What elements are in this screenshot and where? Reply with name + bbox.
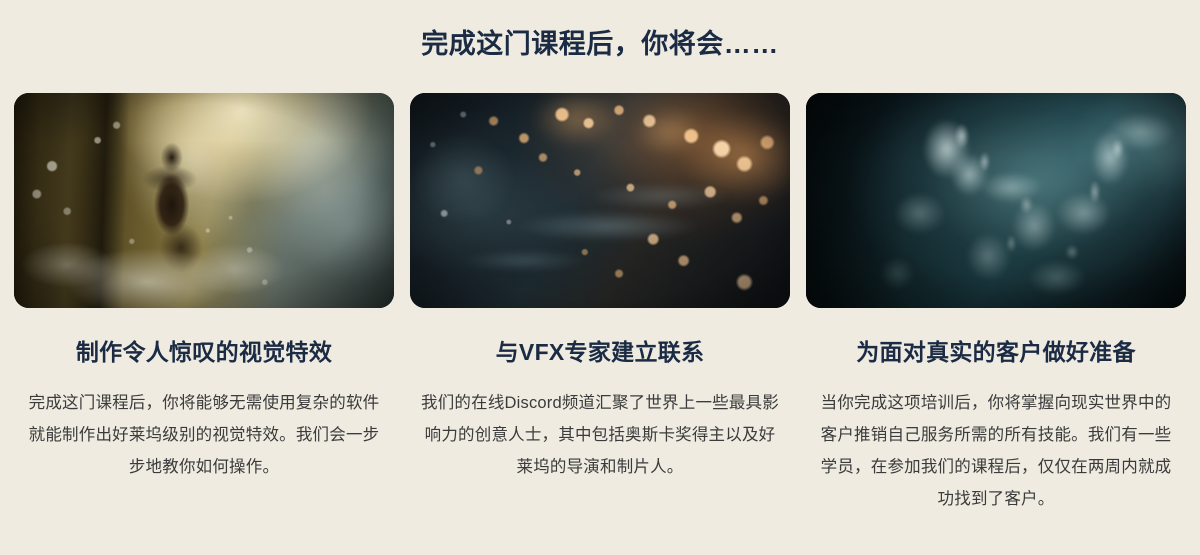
benefit-card-title: 制作令人惊叹的视觉特效: [76, 338, 332, 367]
benefit-card: 与VFX专家建立联系 我们的在线Discord频道汇聚了世界上一些最具影响力的创…: [410, 93, 790, 483]
benefit-card-image-warrior: [14, 93, 394, 308]
image-vignette-layer: [806, 93, 1186, 308]
benefit-card-body: 当你完成这项培训后，你将掌握向现实世界中的客户推销自己服务所需的所有技能。我们有…: [815, 387, 1177, 516]
benefit-card: 为面对真实的客户做好准备 当你完成这项培训后，你将掌握向现实世界中的客户推销自己…: [806, 93, 1186, 515]
section-heading: 完成这门课程后，你将会……: [0, 28, 1200, 60]
benefits-section: 完成这门课程后，你将会…… 制作令人惊叹的视觉特效 完成这门课程后，你将能够无需…: [0, 0, 1200, 555]
benefit-card-image-smoke: [806, 93, 1186, 308]
benefit-card-title: 为面对真实的客户做好准备: [856, 338, 1136, 367]
benefit-card: 制作令人惊叹的视觉特效 完成这门课程后，你将能够无需使用复杂的软件就能制作出好莱…: [14, 93, 394, 483]
benefit-card-title: 与VFX专家建立联系: [496, 338, 705, 367]
benefit-card-body: 我们的在线Discord频道汇聚了世界上一些最具影响力的创意人士，其中包括奥斯卡…: [419, 387, 781, 484]
image-vignette-layer: [14, 93, 394, 308]
image-vignette-layer: [410, 93, 790, 308]
benefit-card-body: 完成这门课程后，你将能够无需使用复杂的软件就能制作出好莱坞级别的视觉特效。我们会…: [23, 387, 385, 484]
benefit-card-image-sparks: [410, 93, 790, 308]
benefit-cards-row: 制作令人惊叹的视觉特效 完成这门课程后，你将能够无需使用复杂的软件就能制作出好莱…: [14, 93, 1186, 515]
